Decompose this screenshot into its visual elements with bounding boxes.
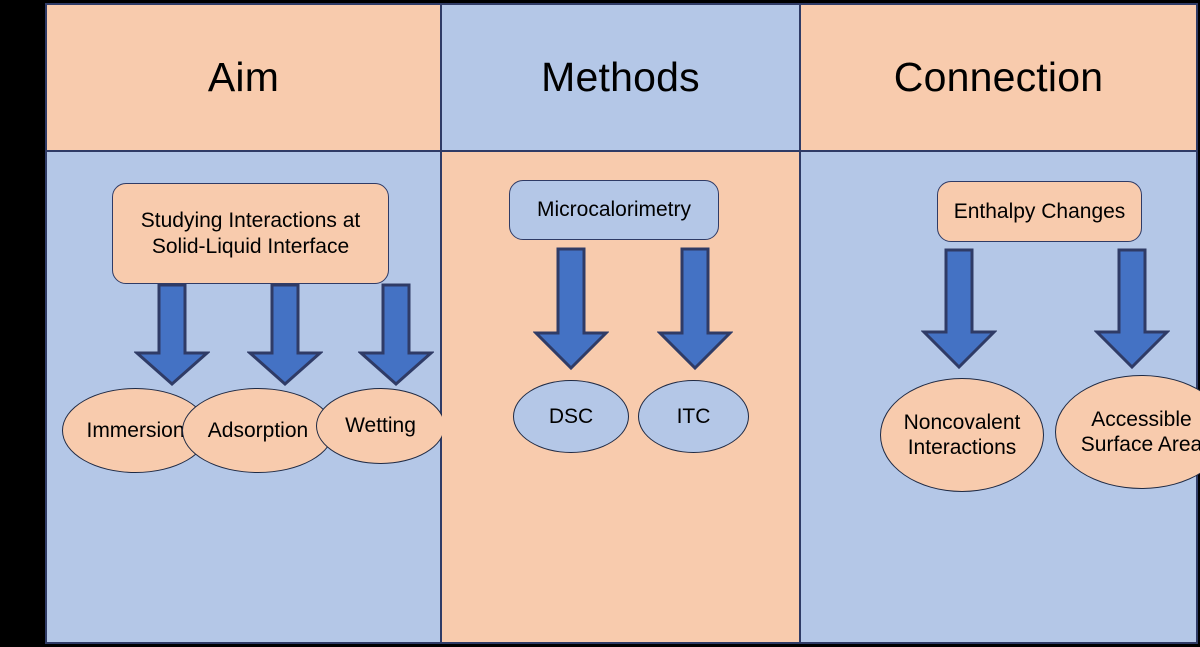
methods-node-dsc: DSC bbox=[513, 380, 629, 453]
methods-node-itc: ITC bbox=[638, 380, 749, 453]
column-header-methods: Methods bbox=[442, 5, 801, 152]
column-body-methods: Microcalorimetry DSC ITC bbox=[442, 152, 801, 642]
methods-node-itc-label: ITC bbox=[673, 404, 715, 429]
aim-arrow-1 bbox=[134, 283, 210, 387]
aim-node-wetting: Wetting bbox=[316, 388, 445, 464]
column-header-connection: Connection bbox=[801, 5, 1196, 152]
connection-arrow-2 bbox=[1094, 248, 1170, 370]
connection-node-noncovalent-interactions-label: Noncovalent Interactions bbox=[896, 410, 1029, 460]
connection-arrow-1 bbox=[921, 248, 997, 370]
column-header-aim-label: Aim bbox=[208, 57, 279, 98]
diagram-canvas: Aim Methods Connection Studying Interact… bbox=[0, 0, 1200, 647]
aim-source-box-text: Studying Interactions at Solid-Liquid In… bbox=[141, 208, 360, 259]
column-header-methods-label: Methods bbox=[541, 57, 700, 98]
methods-arrow-2 bbox=[657, 247, 733, 371]
aim-node-adsorption: Adsorption bbox=[182, 388, 334, 473]
methods-source-box: Microcalorimetry bbox=[509, 180, 719, 240]
connection-source-box: Enthalpy Changes bbox=[937, 181, 1142, 242]
connection-node-accessible-surface-area-label: Accessible Surface Area bbox=[1073, 407, 1200, 457]
connection-node-accessible-surface-area: Accessible Surface Area bbox=[1055, 375, 1200, 489]
aim-node-wetting-label: Wetting bbox=[341, 413, 420, 438]
aim-node-adsorption-label: Adsorption bbox=[204, 418, 312, 443]
column-body-connection: Enthalpy Changes Noncovalent Interaction… bbox=[801, 152, 1196, 642]
aim-arrow-2 bbox=[247, 283, 323, 387]
methods-arrow-1 bbox=[533, 247, 609, 371]
aim-node-immersion-label: Immersion bbox=[82, 418, 188, 443]
aim-arrow-3 bbox=[358, 283, 434, 387]
connection-source-box-text: Enthalpy Changes bbox=[954, 199, 1126, 225]
column-header-aim: Aim bbox=[47, 5, 442, 152]
aim-source-box: Studying Interactions at Solid-Liquid In… bbox=[112, 183, 389, 284]
column-body-aim: Studying Interactions at Solid-Liquid In… bbox=[47, 152, 442, 642]
methods-source-box-text: Microcalorimetry bbox=[537, 197, 691, 223]
diagram-table: Aim Methods Connection Studying Interact… bbox=[45, 3, 1198, 644]
connection-node-noncovalent-interactions: Noncovalent Interactions bbox=[880, 378, 1044, 492]
methods-node-dsc-label: DSC bbox=[545, 404, 597, 429]
column-header-connection-label: Connection bbox=[894, 57, 1103, 98]
